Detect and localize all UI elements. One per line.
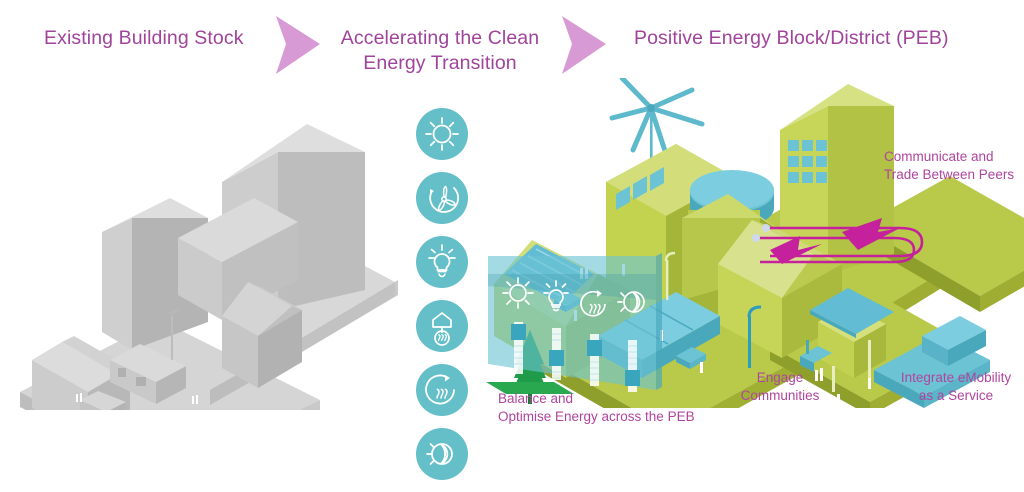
technology-icon-wind[interactable] [416, 172, 468, 224]
chevron-right-icon [272, 14, 324, 76]
callout-integrate-emobility: Integrate eMobility as a Service [886, 369, 1024, 405]
callout-communicate-trade: Communicate and Trade Between Peers [884, 148, 1014, 184]
house-heat-pump-icon [416, 300, 468, 352]
energy-balance-panel [488, 253, 662, 392]
chevron-right-icon [558, 14, 610, 76]
light-bulb-icon [416, 236, 468, 288]
wind-turbine-icon [416, 172, 468, 224]
sun-moon-icon [416, 428, 468, 480]
technology-icon-solar[interactable] [416, 108, 468, 160]
callout-balance-optimise: Balance and Optimise Energy across the P… [498, 390, 695, 426]
technology-icon-column [416, 108, 468, 492]
technology-icon-geothermal[interactable] [416, 300, 468, 352]
technology-icon-day-night[interactable] [416, 428, 468, 480]
technology-icon-lighting[interactable] [416, 236, 468, 288]
heat-recovery-icon [416, 364, 468, 416]
technology-icon-heat-recovery[interactable] [416, 364, 468, 416]
sun-icon [416, 108, 468, 160]
header-step-accelerating-clean-energy-transition: Accelerating the Clean Energy Transition [330, 26, 550, 76]
header-step-positive-energy-block: Positive Energy Block/District (PEB) [634, 26, 949, 51]
positive-energy-block-illustration [470, 78, 1024, 408]
existing-building-stock-illustration [10, 110, 410, 410]
header-step-existing-building-stock: Existing Building Stock [44, 26, 244, 51]
callout-engage-communities: Engage Communities [725, 369, 835, 405]
infographic-canvas: Existing Building Stock Accelerating the… [0, 0, 1024, 462]
